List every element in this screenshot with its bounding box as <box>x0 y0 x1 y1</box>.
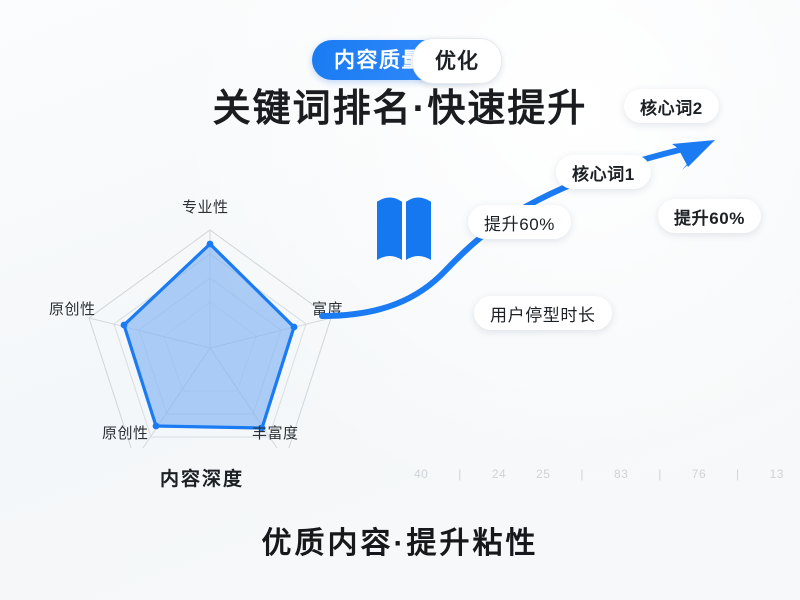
axis-tick-0: 40 <box>414 467 428 481</box>
badge-chip[interactable]: 优化 <box>412 38 502 84</box>
callout-label: 用户停型时长 <box>490 301 596 326</box>
badge-container: 内容质量 优化 <box>0 40 800 80</box>
radar-axis-label-4: 原创性 <box>49 298 96 319</box>
badge-chip-label: 优化 <box>435 51 479 72</box>
axis-tick-6: | <box>658 467 662 481</box>
radar-axis-label-0: 专业性 <box>182 196 229 217</box>
axis-tick-7: 76 <box>692 467 706 481</box>
radar-axis-label-1: 富度 <box>312 298 343 319</box>
bottom-heading: 优质内容·提升粘性 <box>0 518 800 562</box>
axis-tick-2: 24 <box>492 467 506 481</box>
content-quality-badge[interactable]: 内容质量 优化 <box>312 40 488 80</box>
callout-keyword-2[interactable]: 核心词2 <box>624 89 719 123</box>
callout-label: 核心词2 <box>640 94 703 119</box>
badge-main-label: 内容质量 <box>334 50 424 71</box>
axis-tick-3: 25 <box>536 467 550 481</box>
poster-canvas: 内容质量 优化 关键词排名·快速提升 <box>0 0 800 600</box>
axis-tick-strip: 40 | 24 25 | 83 | 76 | 13 <box>414 464 784 484</box>
axis-tick-1: | <box>458 467 462 481</box>
callout-dwell-time[interactable]: 用户停型时长 <box>474 296 612 330</box>
callout-label: 提升60% <box>674 204 745 229</box>
callout-increase-left[interactable]: 提升60% <box>468 205 571 239</box>
radar-axis-label-3: 原创性 <box>102 422 149 443</box>
axis-tick-8: | <box>736 467 740 481</box>
axis-tick-4: | <box>580 467 584 481</box>
radar-caption: 内容深度 <box>160 464 244 491</box>
callout-keyword-1[interactable]: 核心词1 <box>556 155 651 189</box>
radar-data-area <box>124 244 294 428</box>
callout-label: 核心词1 <box>572 160 635 185</box>
axis-tick-5: 83 <box>614 467 628 481</box>
open-book-icon <box>373 186 435 270</box>
callout-label: 提升60% <box>484 210 555 235</box>
axis-tick-9: 13 <box>770 467 784 481</box>
radar-axis-label-2: 丰富度 <box>252 422 299 443</box>
callout-increase-right[interactable]: 提升60% <box>658 199 761 233</box>
radar-chart: 专业性 富度 丰富度 原创性 原创性 <box>40 188 380 448</box>
